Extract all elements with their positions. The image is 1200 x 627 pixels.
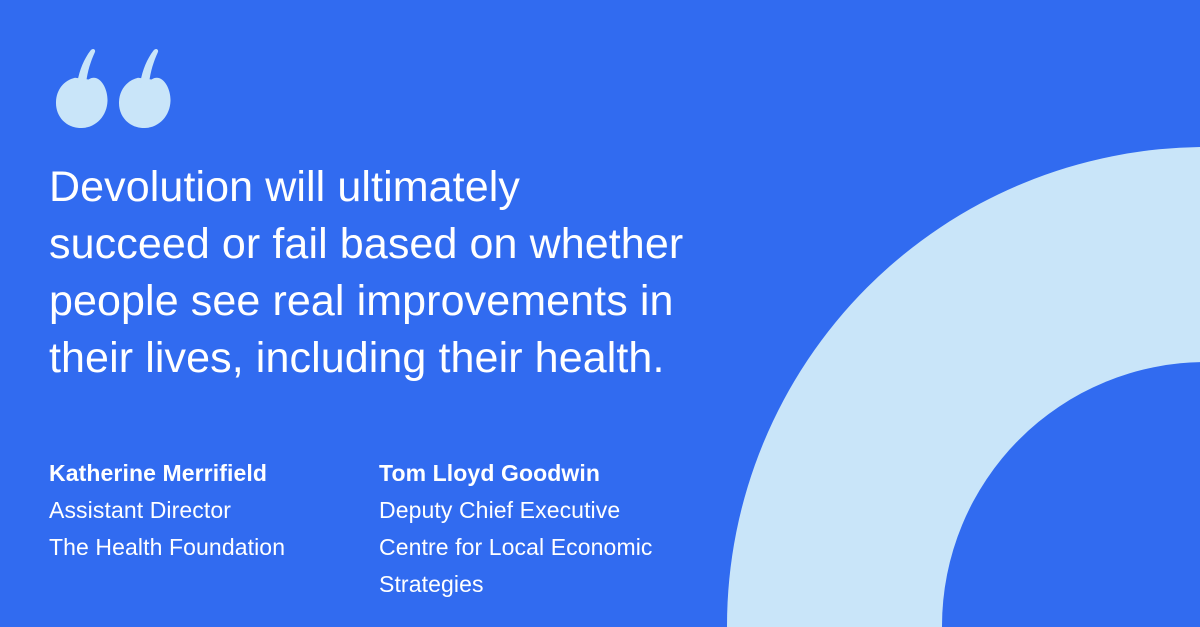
quote-card: Devolution will ultimately succeed or fa… <box>0 0 1200 627</box>
quote-text: Devolution will ultimately succeed or fa… <box>49 159 749 387</box>
attribution-name: Katherine Merrifield <box>49 455 379 492</box>
open-quote-icon <box>50 48 200 134</box>
attribution-role: Assistant Director <box>49 492 379 529</box>
attribution-katherine-merrifield: Katherine Merrifield Assistant Director … <box>49 455 379 566</box>
quote-line-1: Devolution will ultimately <box>49 159 749 216</box>
quote-line-4: their lives, including their health. <box>49 330 749 387</box>
quote-line-2: succeed or fail based on whether <box>49 216 749 273</box>
attribution-organisation-line-1: Centre for Local Economic <box>379 529 709 566</box>
attribution-tom-lloyd-goodwin: Tom Lloyd Goodwin Deputy Chief Executive… <box>379 455 709 603</box>
attribution-organisation-line-2: Strategies <box>379 566 709 603</box>
attribution-group: Katherine Merrifield Assistant Director … <box>49 455 749 603</box>
attribution-name: Tom Lloyd Goodwin <box>379 455 709 492</box>
attribution-organisation: The Health Foundation <box>49 529 379 566</box>
attribution-role: Deputy Chief Executive <box>379 492 709 529</box>
quote-line-3: people see real improvements in <box>49 273 749 330</box>
